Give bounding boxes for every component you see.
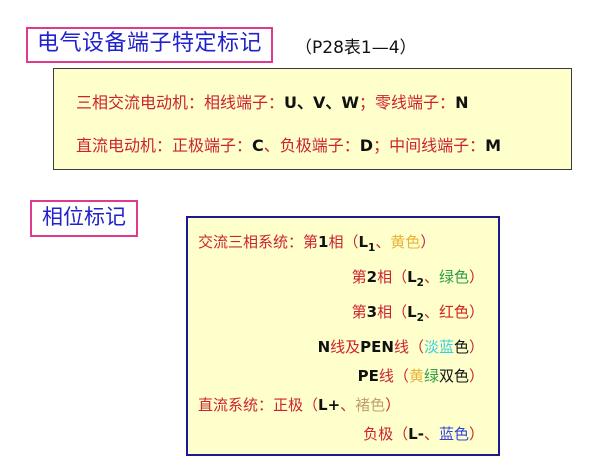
phase-marking-label: 相位标记 xyxy=(42,205,126,229)
phase-row-pe: PE线（黄绿双色） xyxy=(198,362,484,391)
phase-row-dc-positive: 直流系统：正极（L+、褚色） xyxy=(198,391,484,420)
phase-row-l1: 交流三相系统：第1相（L1、黄色） xyxy=(198,228,484,263)
slide-title-row: 电气设备端子特定标记 （P28表1—4） xyxy=(26,27,417,63)
phase-row-dc-negative: 负极（L-、蓝色） xyxy=(198,420,484,449)
title-reference: （P28表1—4） xyxy=(295,33,417,58)
phase-marking-label-box: 相位标记 xyxy=(30,200,138,237)
page-title: 电气设备端子特定标记 xyxy=(37,31,262,56)
terminal-line-ac: 三相交流电动机：相线端子：U、V、W；零线端子：N xyxy=(76,89,468,113)
phase-markings-box: 交流三相系统：第1相（L1、黄色） 第2相（L2、绿色） 第3相（L2、红色） … xyxy=(186,216,500,456)
terminal-line-dc: 直流电动机：正极端子：C、负极端子：D；中间线端子：M xyxy=(76,132,501,156)
slide-title-box: 电气设备端子特定标记 xyxy=(26,27,273,63)
phase-row-l3: 第3相（L2、红色） xyxy=(198,298,484,333)
phase-row-n-pen: N线及PEN线（淡蓝色） xyxy=(198,333,484,362)
phase-row-l2: 第2相（L2、绿色） xyxy=(198,263,484,298)
terminal-markings-box: 三相交流电动机：相线端子：U、V、W；零线端子：N 直流电动机：正极端子：C、负… xyxy=(53,68,572,170)
